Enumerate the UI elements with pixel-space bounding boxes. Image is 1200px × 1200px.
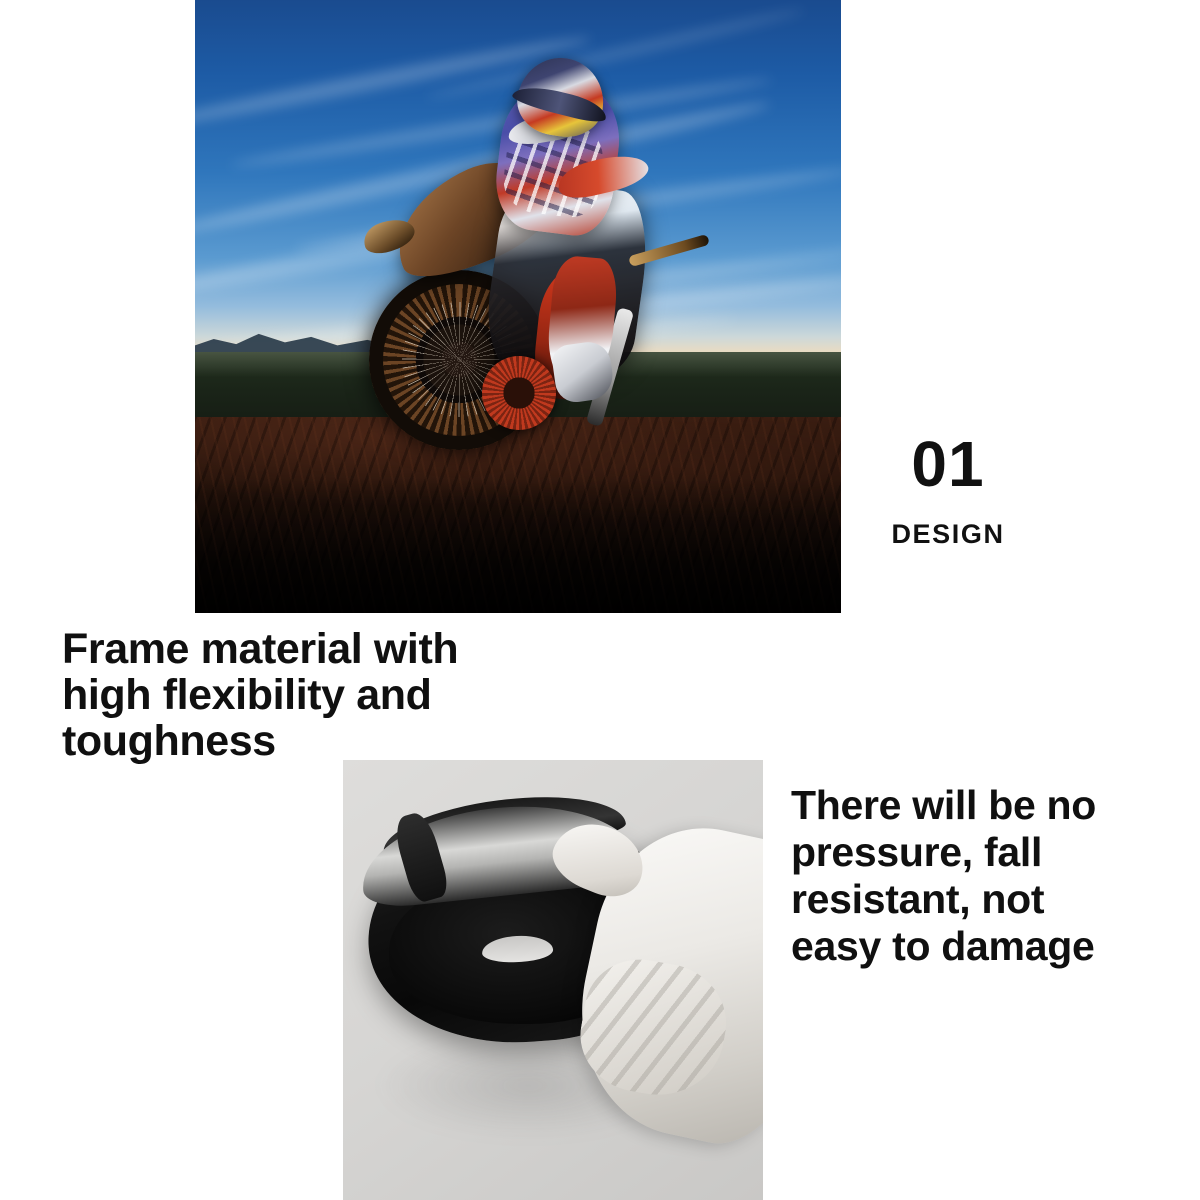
motocross-rider-photo <box>195 0 841 613</box>
section-number: 01 <box>848 432 1048 496</box>
sprocket <box>482 356 556 430</box>
section-label: DESIGN <box>848 519 1048 549</box>
body-line-2: pressure, fall <box>791 829 1171 876</box>
body-line-1: There will be no <box>791 782 1171 829</box>
headline-line-2: high flexibility and <box>62 672 582 718</box>
body-line-4: easy to damage <box>791 923 1171 970</box>
headline-line-1: Frame material with <box>62 626 582 672</box>
body-text-right: There will be no pressure, fall resistan… <box>791 782 1171 970</box>
headline-text: Frame material with high flexibility and… <box>62 626 582 764</box>
product-feature-page: 01 DESIGN Frame material with high flexi… <box>0 0 1200 1200</box>
helmet-flex-demo-photo <box>343 760 763 1200</box>
headline-line-3: toughness <box>62 718 582 764</box>
photo-vignette <box>195 478 841 613</box>
body-line-3: resistant, not <box>791 876 1171 923</box>
